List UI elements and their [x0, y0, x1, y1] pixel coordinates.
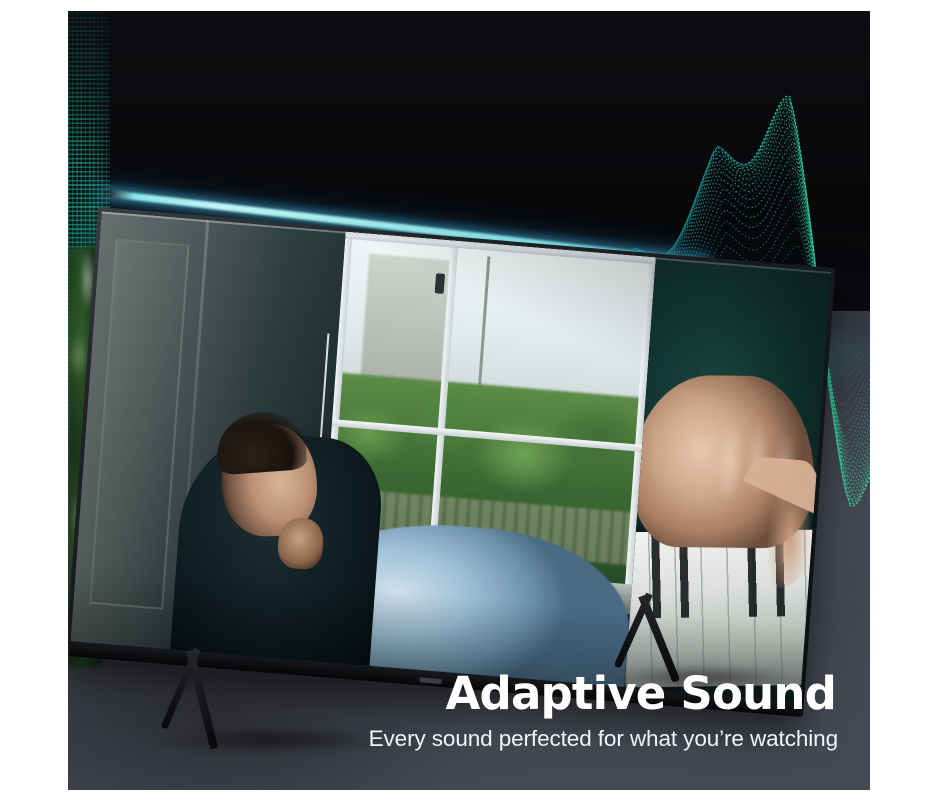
- door-panel: [89, 238, 190, 609]
- banner-page: Adaptive Sound Every sound perfected for…: [0, 0, 943, 807]
- adaptive-sound-banner: Adaptive Sound Every sound perfected for…: [68, 11, 870, 790]
- tv-bezel: [68, 207, 835, 717]
- page-title: Adaptive Sound: [202, 671, 842, 717]
- tv-screen: [71, 211, 832, 701]
- screen-content: [71, 211, 832, 701]
- scene-bedroom: [71, 211, 657, 687]
- window-latch-icon: [435, 273, 445, 294]
- banner-text-block: Adaptive Sound Every sound perfected for…: [202, 671, 842, 752]
- page-subtitle: Every sound perfected for what you’re wa…: [202, 725, 842, 752]
- television: [68, 207, 835, 717]
